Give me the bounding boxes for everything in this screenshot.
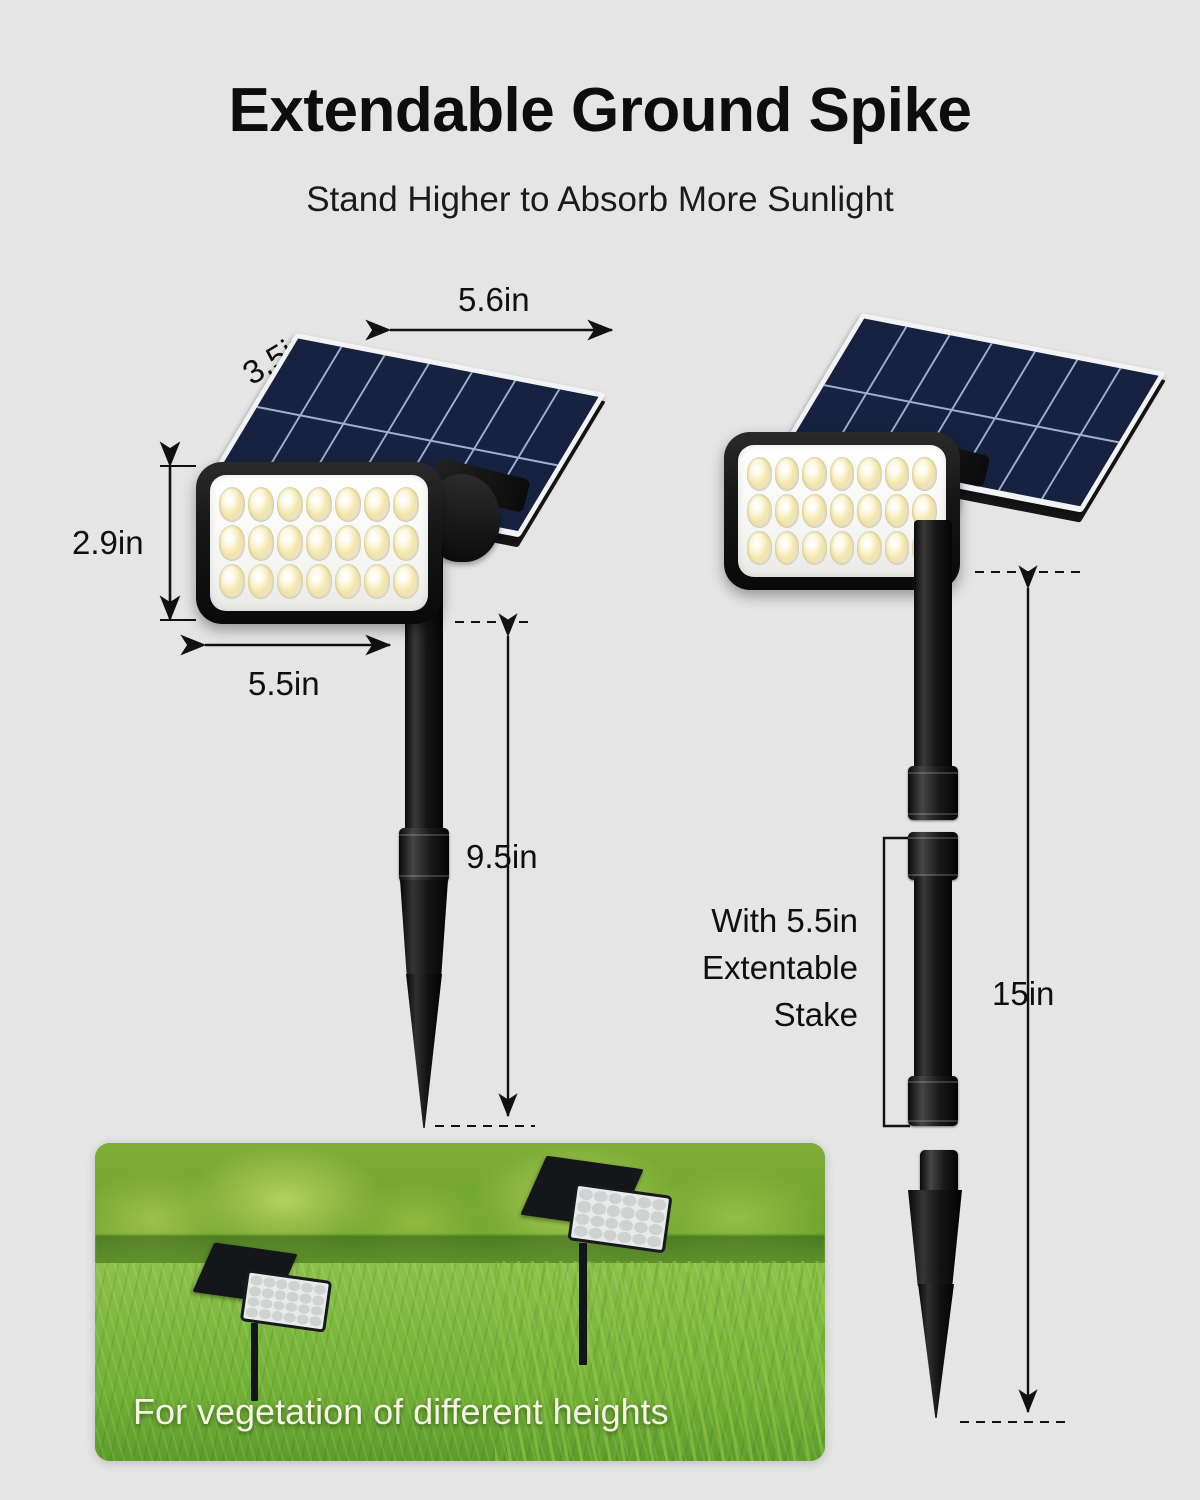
left-led-panel xyxy=(210,475,428,611)
led xyxy=(747,531,772,565)
infographic-canvas: Extendable Ground Spike Stand Higher to … xyxy=(0,0,1200,1500)
led xyxy=(830,494,855,528)
led xyxy=(885,531,910,565)
led xyxy=(885,494,910,528)
photo-caption: For vegetation of different heights xyxy=(133,1391,669,1433)
left-spike-tip xyxy=(406,974,442,1128)
led xyxy=(912,457,937,491)
led xyxy=(775,531,800,565)
led xyxy=(747,494,772,528)
photo-lamp-tall xyxy=(523,1161,683,1381)
led xyxy=(248,525,274,560)
led xyxy=(802,494,827,528)
right-spike-neck xyxy=(920,1150,958,1194)
lifestyle-photo: For vegetation of different heights xyxy=(95,1143,825,1461)
extension-bottom-collar xyxy=(908,1076,958,1126)
led xyxy=(830,531,855,565)
left-spike-shaft xyxy=(400,880,448,976)
right-upper-collar xyxy=(908,766,958,820)
extension-tube xyxy=(914,876,952,1082)
led xyxy=(364,525,390,560)
photo-lamp-short xyxy=(203,1243,363,1403)
led xyxy=(219,564,245,599)
extension-top-collar xyxy=(908,832,958,880)
left-product-illustration xyxy=(0,0,640,1140)
right-spike-shaft xyxy=(908,1190,962,1286)
right-spike-tip xyxy=(918,1284,954,1418)
led xyxy=(277,525,303,560)
led xyxy=(802,457,827,491)
led xyxy=(857,531,882,565)
led xyxy=(830,457,855,491)
led xyxy=(335,487,361,522)
led xyxy=(393,525,419,560)
led xyxy=(364,487,390,522)
led xyxy=(364,564,390,599)
led xyxy=(248,487,274,522)
led xyxy=(747,457,772,491)
right-upper-pole xyxy=(914,520,952,772)
led xyxy=(219,525,245,560)
led xyxy=(802,531,827,565)
led xyxy=(277,564,303,599)
led xyxy=(857,494,882,528)
left-led-head xyxy=(196,462,442,624)
led xyxy=(775,494,800,528)
led xyxy=(335,564,361,599)
led xyxy=(393,564,419,599)
led xyxy=(885,457,910,491)
led xyxy=(775,457,800,491)
led xyxy=(248,564,274,599)
led xyxy=(219,487,245,522)
led xyxy=(277,487,303,522)
left-pole-collar xyxy=(399,828,449,882)
led xyxy=(335,525,361,560)
led xyxy=(306,564,332,599)
led xyxy=(857,457,882,491)
led xyxy=(393,487,419,522)
led xyxy=(306,525,332,560)
led xyxy=(306,487,332,522)
